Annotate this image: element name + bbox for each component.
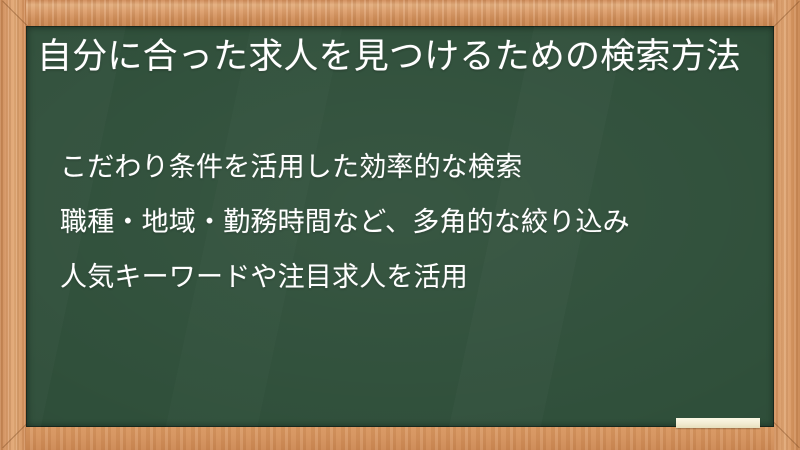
bullet-item-2: 職種・地域・勤務時間など、多角的な絞り込み	[60, 207, 760, 237]
frame-rail-top	[0, 0, 800, 26]
bullet-item-3: 人気キーワードや注目求人を活用	[60, 262, 760, 292]
bullet-item-1: こだわり条件を活用した効率的な検索	[60, 152, 760, 182]
frame-rail-bottom	[0, 426, 800, 450]
frame-rail-left	[0, 0, 26, 450]
chalkboard-surface: 自分に合った求人を見つけるための検索方法 こだわり条件を活用した効率的な検索 職…	[26, 26, 774, 427]
slide-title: 自分に合った求人を見つけるための検索方法	[37, 33, 749, 81]
bullet-list: こだわり条件を活用した効率的な検索 職種・地域・勤務時間など、多角的な絞り込み …	[60, 152, 760, 292]
chalk-stick-icon	[676, 418, 760, 428]
frame-rail-right	[774, 0, 800, 450]
chalkboard-slide: 自分に合った求人を見つけるための検索方法 こだわり条件を活用した効率的な検索 職…	[0, 0, 800, 450]
